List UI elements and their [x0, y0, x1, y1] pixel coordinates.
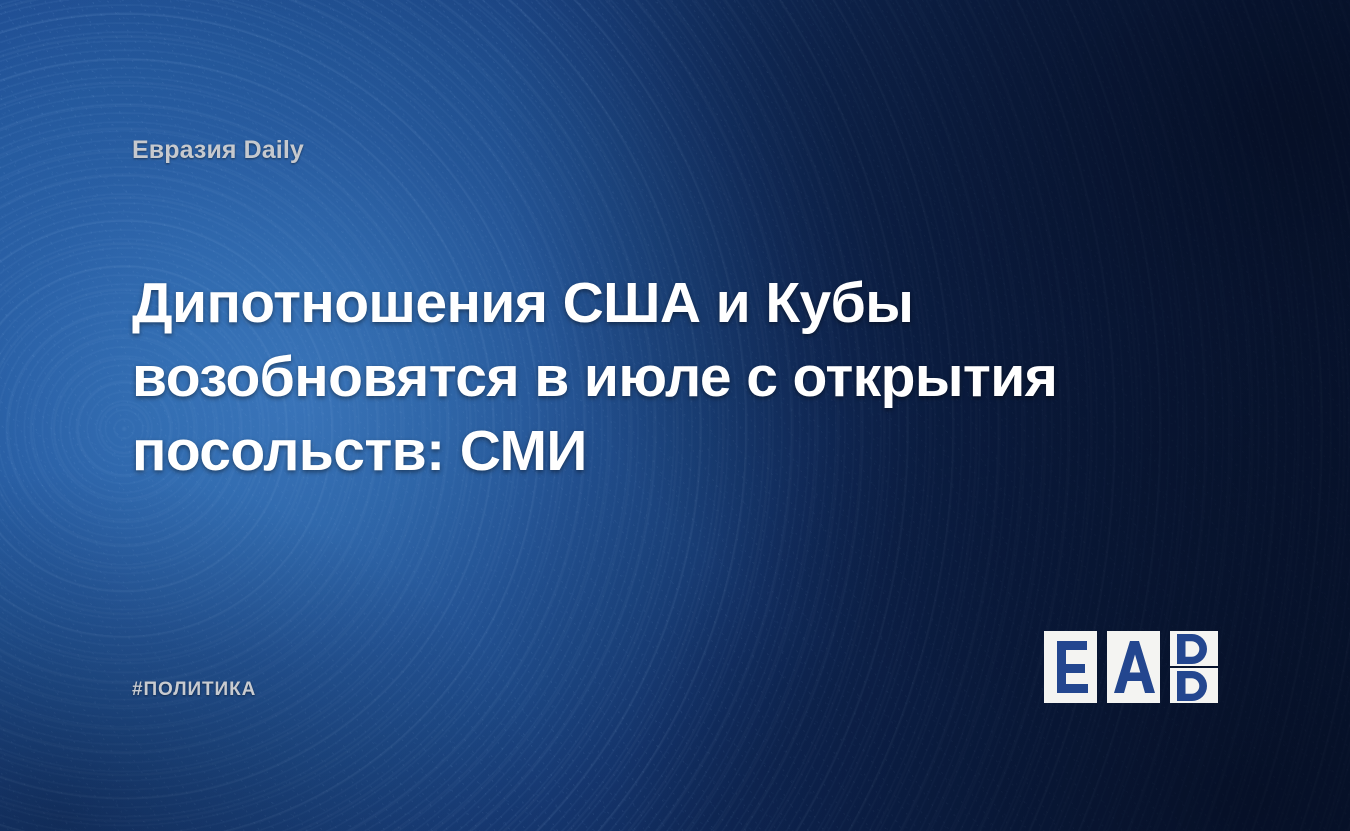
eadaily-logo: [1044, 631, 1224, 704]
headline-text: Дипотношения США и Кубы возобновятся в и…: [132, 266, 1062, 488]
eadaily-logo-icon: [1044, 631, 1224, 704]
news-share-card: Евразия Daily Дипотношения США и Кубы во…: [0, 0, 1350, 831]
brand-wordmark: Евразия Daily: [132, 136, 304, 165]
card-content: Евразия Daily Дипотношения США и Кубы во…: [0, 0, 1350, 831]
category-hashtag: #ПОЛИТИКА: [132, 679, 256, 701]
